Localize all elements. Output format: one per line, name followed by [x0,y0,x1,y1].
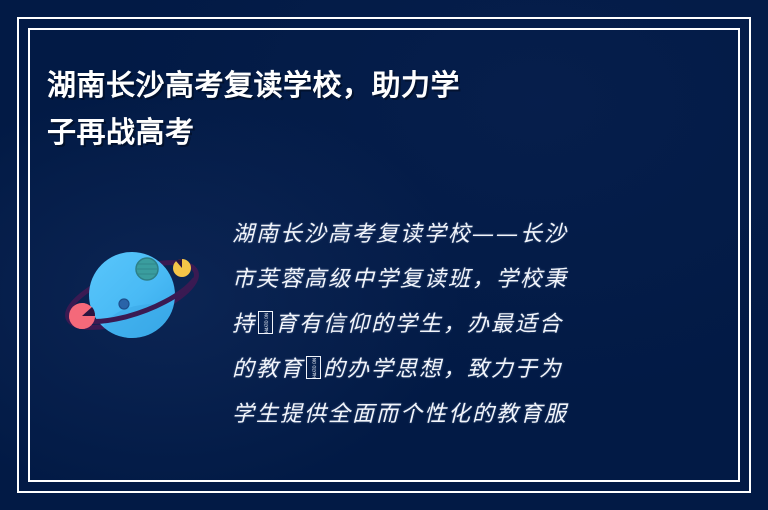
moon-yellow-icon [173,259,191,277]
planet-crater-large [136,258,158,280]
body-line-2: 市芙蓉高级中学复读班，学校秉 [232,257,644,302]
body-line-4: 的教育的办学思想，致力于为 [232,347,644,392]
planet-illustration [62,230,202,360]
title-line-1: 湖南长沙高考复读学校，助力学 [47,62,377,109]
moon-pink-icon [69,303,95,329]
page-title: 湖南长沙高考复读学校，助力学 子再战高考 [47,62,377,156]
missing-glyph-box [258,311,273,334]
body-line-1: 湖南长沙高考复读学校——长沙 [232,212,644,257]
missing-glyph-box [306,356,321,379]
body-line-3: 持育有信仰的学生，办最适合 [232,302,644,347]
title-line-2: 子再战高考 [47,109,377,156]
body-paragraph: 湖南长沙高考复读学校——长沙 市芙蓉高级中学复读班，学校秉 持育有信仰的学生，办… [232,212,644,437]
poster-canvas: 湖南长沙高考复读学校，助力学 子再战高考 [0,0,768,510]
body-line-5: 学生提供全面而个性化的教育服 [232,392,644,437]
